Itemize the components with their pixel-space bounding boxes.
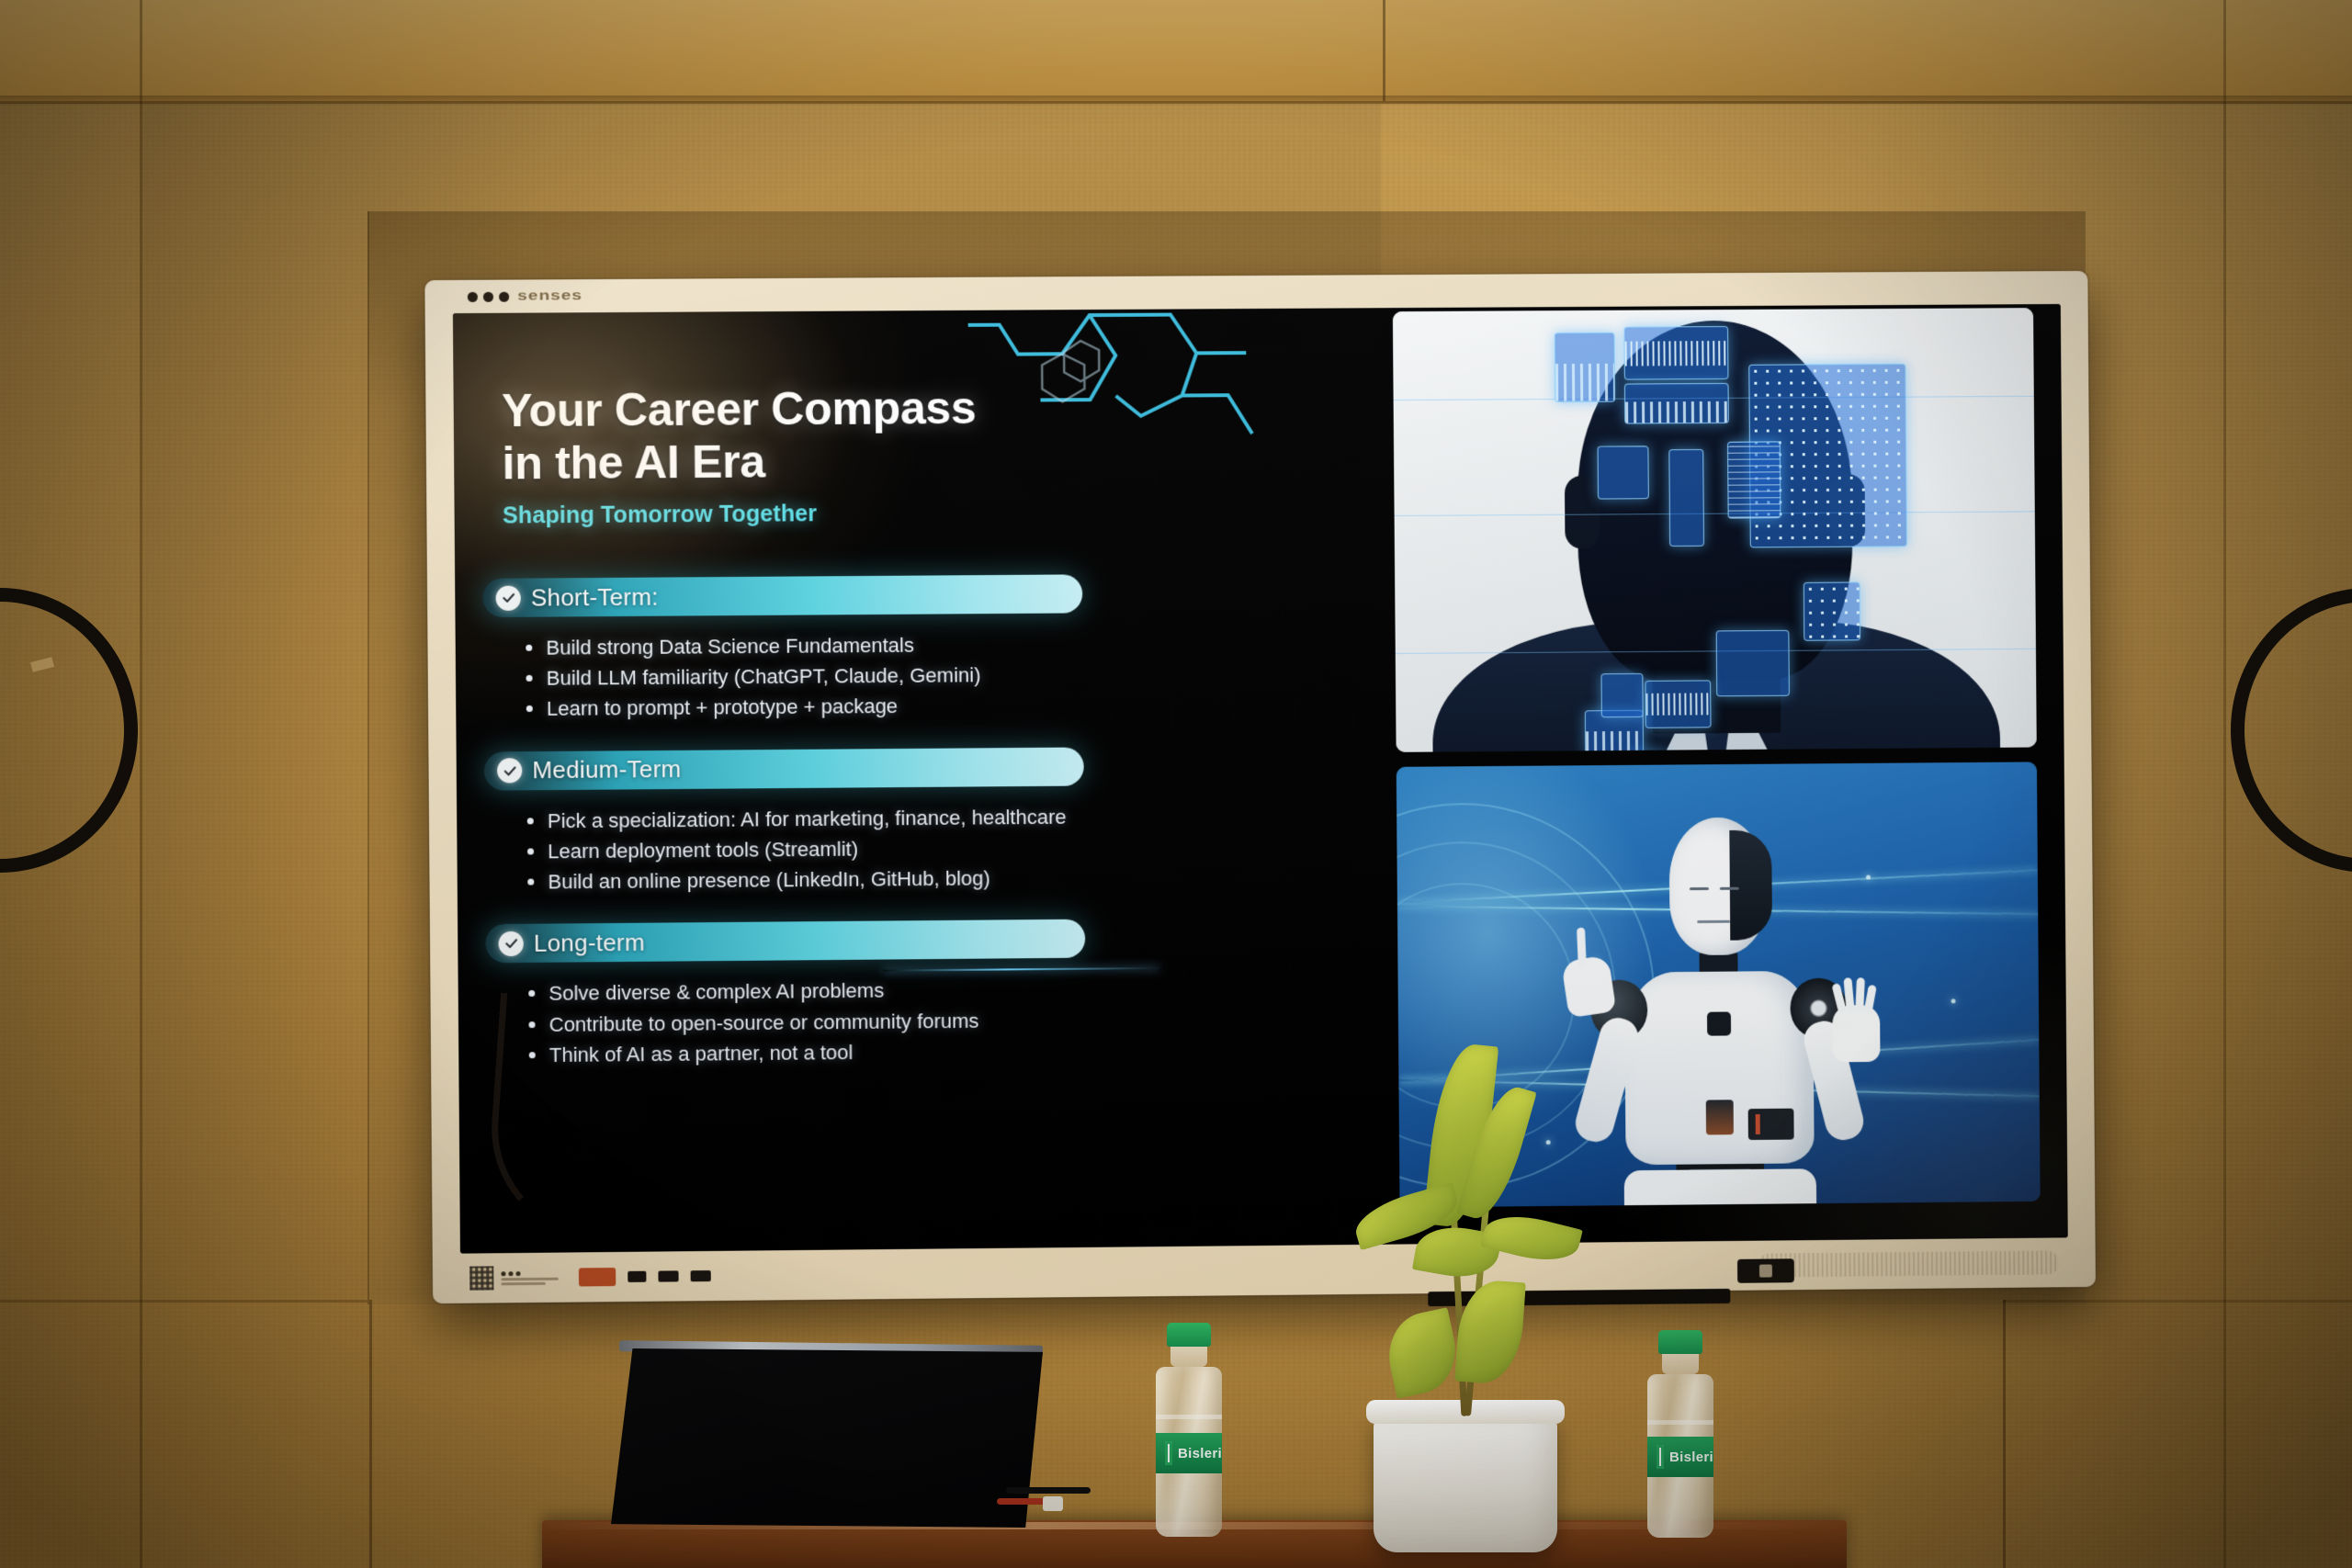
label-line — [501, 1281, 545, 1284]
display-brand-label: senses — [517, 288, 582, 304]
hud-panel-waveform — [1645, 680, 1711, 728]
robot-head — [1668, 818, 1767, 956]
wall-seam — [1383, 0, 1385, 101]
robot-mouth — [1697, 920, 1730, 923]
page-title-line1: Your Career Compass — [502, 381, 1092, 437]
robot-hand-pointing — [1561, 954, 1616, 1018]
robot-eye — [1690, 887, 1709, 890]
hud-panel-crosshair — [1716, 630, 1790, 696]
hud-panel-lines — [1727, 441, 1781, 518]
bottle-neck — [1662, 1354, 1699, 1374]
check-circle-icon — [497, 758, 522, 783]
laptop-screen-back — [611, 1348, 1043, 1528]
section-label: Long-term — [534, 929, 645, 958]
robot-hand-open — [1832, 1005, 1880, 1062]
hud-panel-small — [1600, 673, 1643, 717]
adapter-white — [1043, 1496, 1063, 1511]
list-item: Pick a specialization: AI for marketing,… — [524, 802, 1085, 835]
usb-port[interactable] — [691, 1270, 711, 1281]
interactive-display[interactable]: senses — [424, 271, 2096, 1303]
usb-port[interactable] — [658, 1270, 678, 1281]
potted-plant — [1337, 1038, 1594, 1552]
laptop[interactable] — [611, 1348, 1043, 1528]
hud-panel-meter — [1668, 449, 1704, 547]
hud-panel-scan — [1598, 446, 1649, 499]
plant-leaf — [1454, 1279, 1526, 1386]
bottle-cap — [1167, 1323, 1211, 1347]
section-label: Short-Term: — [531, 582, 659, 612]
brand-glyph-icon — [1657, 1445, 1664, 1469]
robot-head-mechanical-side — [1729, 830, 1772, 941]
indicator-dots-icon — [468, 291, 509, 301]
list-item: Build strong Data Science Fundamentals — [522, 629, 1083, 662]
label-line — [501, 1277, 558, 1280]
robot-torso — [1624, 971, 1815, 1165]
bottle-label: Bisleri — [1156, 1433, 1222, 1473]
bottle-neck — [1170, 1347, 1207, 1367]
bottle-body: Bisleri — [1647, 1374, 1713, 1538]
list-item: Learn deployment tools (Streamlit) — [524, 833, 1085, 866]
water-bottle[interactable]: Bisleri — [1153, 1323, 1225, 1537]
section-bullet-list: Build strong Data Science Fundamentals B… — [522, 629, 1083, 723]
section-medium-term: Medium-Term Pick a specialization: AI fo… — [484, 747, 1085, 897]
wall-seam — [140, 0, 142, 1568]
brand-glyph-icon — [1165, 1441, 1172, 1465]
particle — [1951, 998, 1956, 1003]
hud-panel-bars — [1624, 383, 1729, 424]
hud-panel-bars — [1555, 333, 1615, 402]
display-screen[interactable]: Your Career Compass in the AI Era Shapin… — [453, 304, 2068, 1254]
presentation-slide: Your Career Compass in the AI Era Shapin… — [453, 304, 2068, 1254]
list-item: Learn to prompt + prototype + package — [523, 691, 1084, 724]
section-header-pill[interactable]: Medium-Term — [484, 747, 1084, 790]
check-circle-icon — [498, 931, 523, 956]
wall-seam — [0, 101, 2352, 104]
robot-vent — [1748, 1109, 1794, 1140]
laptop-cables — [989, 1487, 1091, 1511]
check-circle-icon — [496, 585, 521, 610]
slide-title-block: Your Career Compass in the AI Era Shapin… — [502, 381, 1093, 529]
hud-panel-waveform — [1623, 326, 1728, 380]
ceiling-strip — [0, 0, 2352, 103]
section-label: Medium-Term — [532, 755, 681, 784]
list-item: Build LLM familiarity (ChatGPT, Claude, … — [522, 660, 1083, 694]
ai-businessman-hud-image — [1393, 308, 2037, 752]
bottle-body: Bisleri — [1156, 1367, 1222, 1537]
section-bullet-list: Pick a specialization: AI for marketing,… — [524, 802, 1085, 897]
port-cluster[interactable] — [579, 1267, 711, 1286]
bottle-brand-label: Bisleri — [1669, 1450, 1713, 1465]
robot-finger — [1577, 928, 1587, 968]
list-item: Build an online presence (LinkedIn, GitH… — [524, 863, 1085, 897]
page-subtitle: Shaping Tomorrow Together — [503, 499, 1093, 529]
wall-seam — [0, 1300, 367, 1303]
conference-room-scene: senses — [0, 0, 2352, 1568]
section-header-pill[interactable]: Long-term — [485, 919, 1085, 964]
speaker-grille — [1758, 1250, 2059, 1277]
plant-pot — [1374, 1415, 1557, 1552]
robot-eye — [1720, 887, 1739, 890]
bottle-label: Bisleri — [1647, 1437, 1713, 1477]
robot-belly-port — [1706, 1100, 1734, 1134]
robot-base — [1624, 1168, 1817, 1207]
bottle-cap — [1658, 1330, 1702, 1354]
spec-label — [501, 1270, 559, 1285]
section-header-pill[interactable]: Short-Term: — [482, 574, 1082, 617]
brand-dots-icon — [501, 1270, 558, 1276]
wall-seam — [2003, 1300, 2352, 1303]
ir-receiver-module — [1737, 1258, 1794, 1283]
businessman-ear — [1565, 476, 1600, 549]
section-short-term: Short-Term: Build strong Data Science Fu… — [482, 574, 1083, 724]
wall-seam — [369, 1300, 372, 1568]
wall-seam — [2003, 1300, 2006, 1568]
wall-seam — [2223, 0, 2226, 1568]
power-plug[interactable] — [579, 1268, 616, 1286]
page-title-line2: in the AI Era — [502, 434, 1092, 490]
plant-leaf — [1381, 1307, 1464, 1399]
humanoid-robot — [1562, 817, 1876, 1204]
hud-panel-dots — [1804, 581, 1860, 640]
bottle-brand-label: Bisleri — [1178, 1446, 1222, 1461]
hdmi-port[interactable] — [628, 1271, 646, 1282]
cable-black — [1006, 1487, 1091, 1494]
robot-chest-port — [1707, 1011, 1731, 1035]
water-bottle[interactable]: Bisleri — [1645, 1330, 1716, 1538]
qr-code-label — [469, 1266, 493, 1290]
